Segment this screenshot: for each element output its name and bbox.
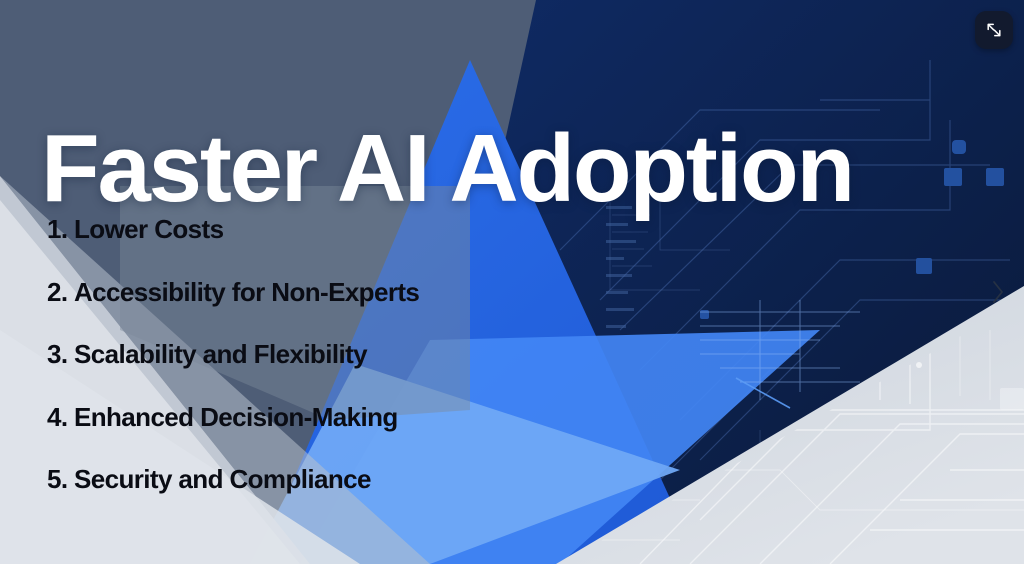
slide-content: Faster AI Adoption 1. Lower Costs 2. Acc… — [0, 0, 1024, 564]
list-item-label: Security and Compliance — [74, 464, 371, 495]
page-title: Faster AI Adoption — [41, 121, 853, 217]
list-item: 1. Lower Costs — [47, 214, 419, 277]
slide-viewport: Faster AI Adoption 1. Lower Costs 2. Acc… — [0, 0, 1024, 564]
list-item: 4. Enhanced Decision-Making — [47, 402, 419, 465]
chevron-right-icon — [990, 279, 1006, 305]
list-item: 2. Accessibility for Non-Experts — [47, 277, 419, 340]
list-item-index: 1. — [47, 214, 74, 245]
fullscreen-button[interactable] — [975, 11, 1013, 49]
list-item-label: Lower Costs — [74, 214, 223, 245]
list-item-index: 2. — [47, 277, 74, 308]
benefit-list: 1. Lower Costs 2. Accessibility for Non-… — [47, 214, 419, 527]
list-item-label: Scalability and Flexibility — [74, 339, 367, 370]
list-item-index: 3. — [47, 339, 74, 370]
next-slide-button[interactable] — [980, 271, 1016, 313]
list-item: 5. Security and Compliance — [47, 464, 419, 527]
list-item-label: Enhanced Decision-Making — [74, 402, 398, 433]
list-item-label: Accessibility for Non-Experts — [74, 277, 419, 308]
list-item-index: 4. — [47, 402, 74, 433]
list-item-index: 5. — [47, 464, 74, 495]
expand-arrows-icon — [984, 20, 1004, 40]
list-item: 3. Scalability and Flexibility — [47, 339, 419, 402]
